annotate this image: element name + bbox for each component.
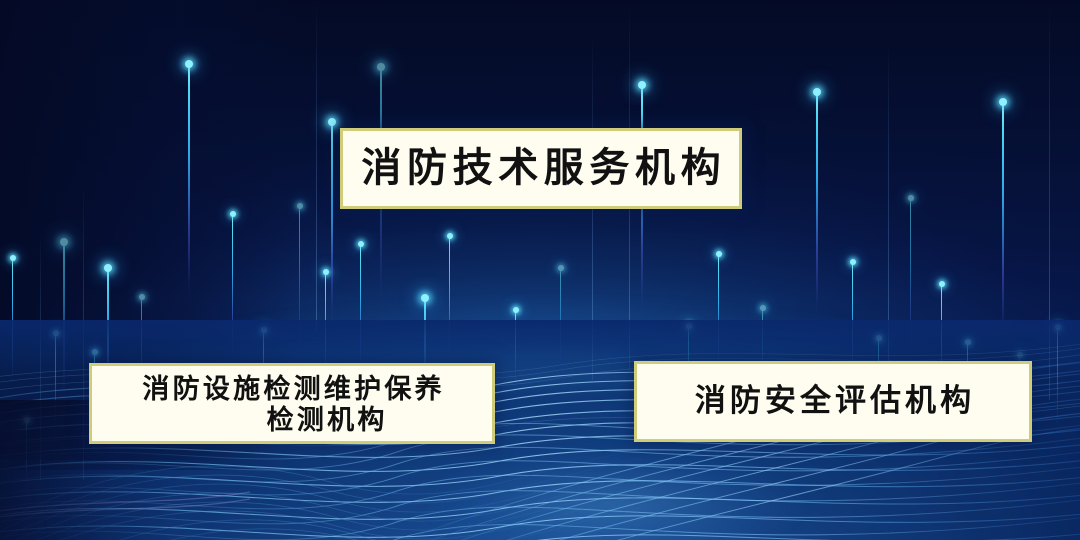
wave-left-shade: [0, 430, 170, 540]
light-streak: [331, 122, 333, 328]
light-streak: [188, 64, 190, 300]
label-box-inspection-maintenance[interactable]: 消防设施检测维护保养 检测机构: [89, 363, 495, 444]
label-box-safety-assessment[interactable]: 消防安全评估机构: [634, 361, 1032, 442]
label-box-title[interactable]: 消防技术服务机构: [340, 128, 742, 209]
label-right-line-1: 消防安全评估机构: [691, 384, 975, 419]
light-streak: [816, 92, 818, 320]
wave-highlight: [367, 430, 864, 540]
poster-canvas: 消防技术服务机构 消防设施检测维护保养 检测机构 消防安全评估机构: [0, 0, 1080, 540]
label-left-line-2: 检测机构: [196, 405, 387, 435]
label-left-line-1: 消防设施检测维护保养: [139, 374, 445, 404]
light-streak: [1002, 102, 1004, 344]
label-title-line-1: 消防技术服务机构: [356, 146, 726, 191]
